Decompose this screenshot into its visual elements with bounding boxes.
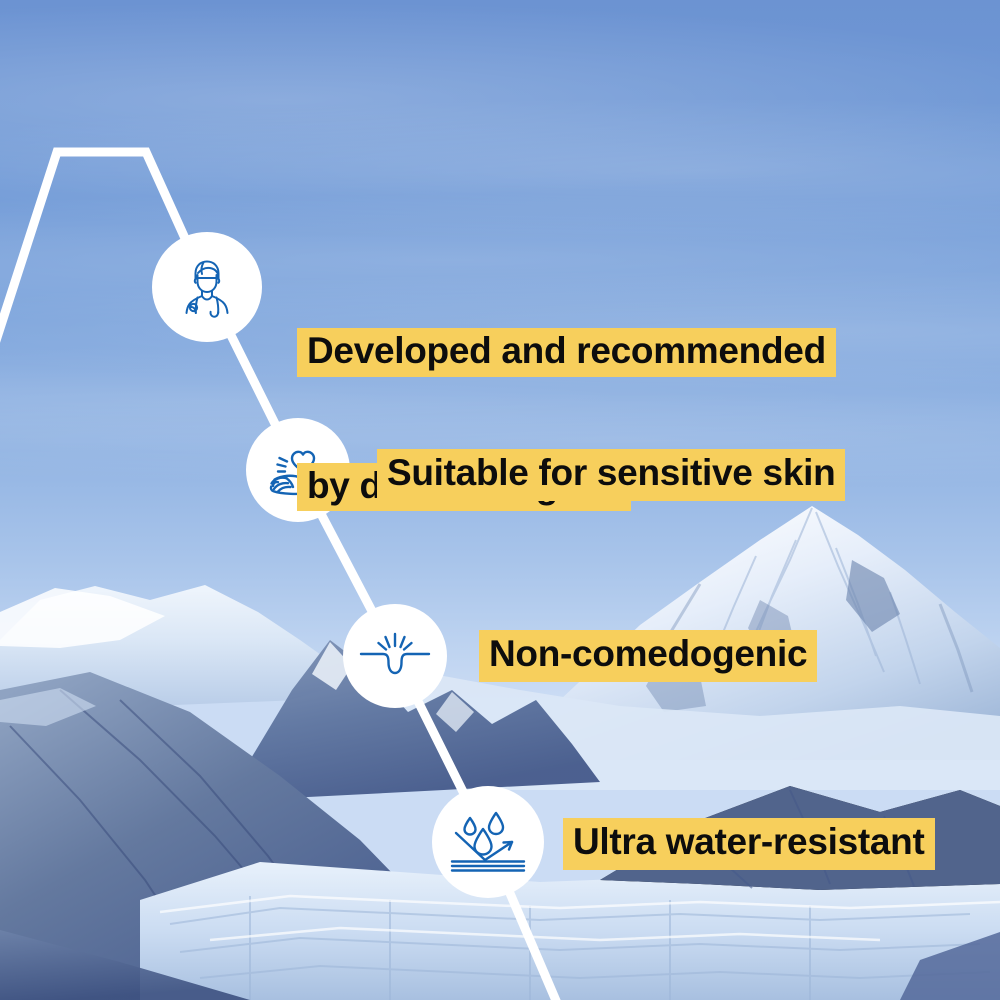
benefit-label-water-resistant: Ultra water-resistant <box>563 818 935 870</box>
benefit-bubble-dermatologist[interactable] <box>152 232 262 342</box>
pore-follicle-icon <box>357 618 433 694</box>
benefit-label-sensitive-skin: Suitable for sensitive skin <box>377 449 845 501</box>
infographic-canvas: Developed and recommended by dermatologi… <box>0 0 1000 1000</box>
benefit-bubble-non-comedogenic[interactable] <box>343 604 447 708</box>
benefit-label-dermatologist: Developed and recommended by dermatologi… <box>287 236 846 605</box>
benefit-bubble-water-resistant[interactable] <box>432 786 544 898</box>
benefit-label-line: Developed and recommended <box>297 328 836 377</box>
benefit-label-non-comedogenic: Non-comedogenic <box>479 630 817 682</box>
doctor-stethoscope-icon <box>171 251 243 323</box>
water-droplet-repel-icon <box>448 802 528 882</box>
